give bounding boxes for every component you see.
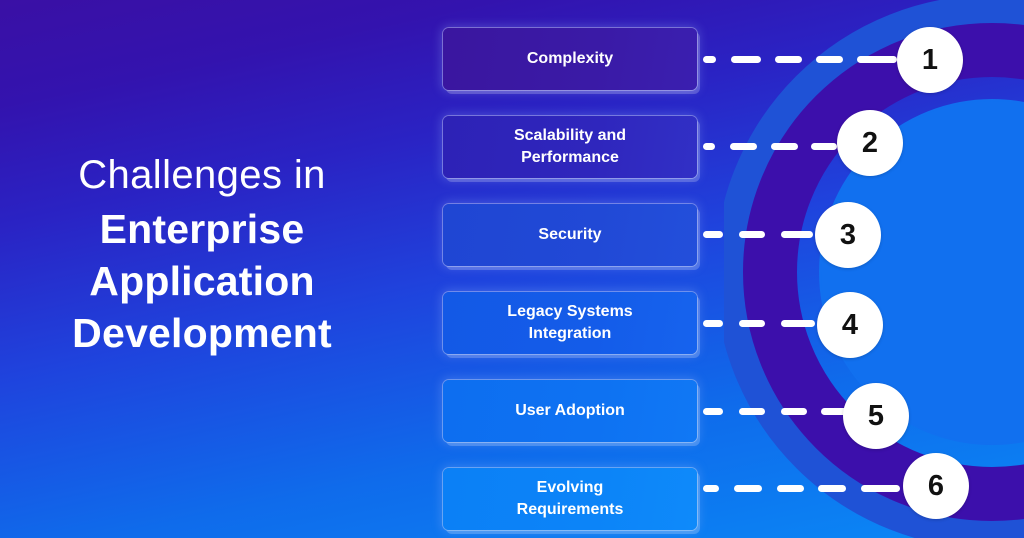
challenge-box-5[interactable]: User Adoption — [443, 380, 697, 442]
challenge-label-4: Legacy Systems — [507, 301, 632, 323]
connector-dashes-4 — [703, 320, 815, 327]
challenge-label-6: Evolving — [517, 477, 624, 499]
challenge-label-4b: Integration — [507, 323, 632, 345]
challenge-label-1: Complexity — [527, 48, 613, 70]
challenge-box-2[interactable]: Scalability and Performance — [443, 116, 697, 178]
challenge-label-6b: Requirements — [517, 499, 624, 521]
step-number-3[interactable]: 3 — [815, 202, 881, 268]
step-number-5[interactable]: 5 — [843, 383, 909, 449]
connector-dashes-5 — [703, 408, 848, 415]
connector-dashes-2 — [703, 143, 837, 150]
title-line-1: Challenges in — [0, 150, 404, 200]
connector-dashes-6 — [703, 485, 900, 492]
step-number-4[interactable]: 4 — [817, 292, 883, 358]
step-number-label-1: 1 — [922, 44, 938, 77]
step-number-1[interactable]: 1 — [897, 27, 963, 93]
infographic-canvas: Challenges in Enterprise Application Dev… — [0, 0, 1024, 538]
challenge-box-4[interactable]: Legacy Systems Integration — [443, 292, 697, 354]
step-number-label-4: 4 — [842, 309, 858, 342]
step-number-label-5: 5 — [868, 400, 884, 433]
challenge-box-6[interactable]: Evolving Requirements — [443, 468, 697, 530]
decorative-arc-rings — [724, 0, 1024, 538]
step-number-2[interactable]: 2 — [837, 110, 903, 176]
step-number-label-2: 2 — [862, 127, 878, 160]
connector-dashes-3 — [703, 231, 813, 238]
step-number-6[interactable]: 6 — [903, 453, 969, 519]
connector-dashes-1 — [703, 56, 897, 63]
step-number-label-3: 3 — [840, 219, 856, 252]
challenge-box-1[interactable]: Complexity — [443, 28, 697, 90]
challenge-label-2b: Performance — [514, 147, 626, 169]
challenge-label-3: Security — [538, 224, 601, 246]
page-title: Challenges in Enterprise Application Dev… — [0, 150, 404, 359]
step-number-label-6: 6 — [928, 470, 944, 503]
title-line-3: Application — [0, 256, 404, 308]
challenge-box-3[interactable]: Security — [443, 204, 697, 266]
title-line-2: Enterprise — [0, 204, 404, 256]
challenge-label-2: Scalability and — [514, 125, 626, 147]
title-line-4: Development — [0, 308, 404, 360]
challenge-label-5: User Adoption — [515, 400, 625, 422]
